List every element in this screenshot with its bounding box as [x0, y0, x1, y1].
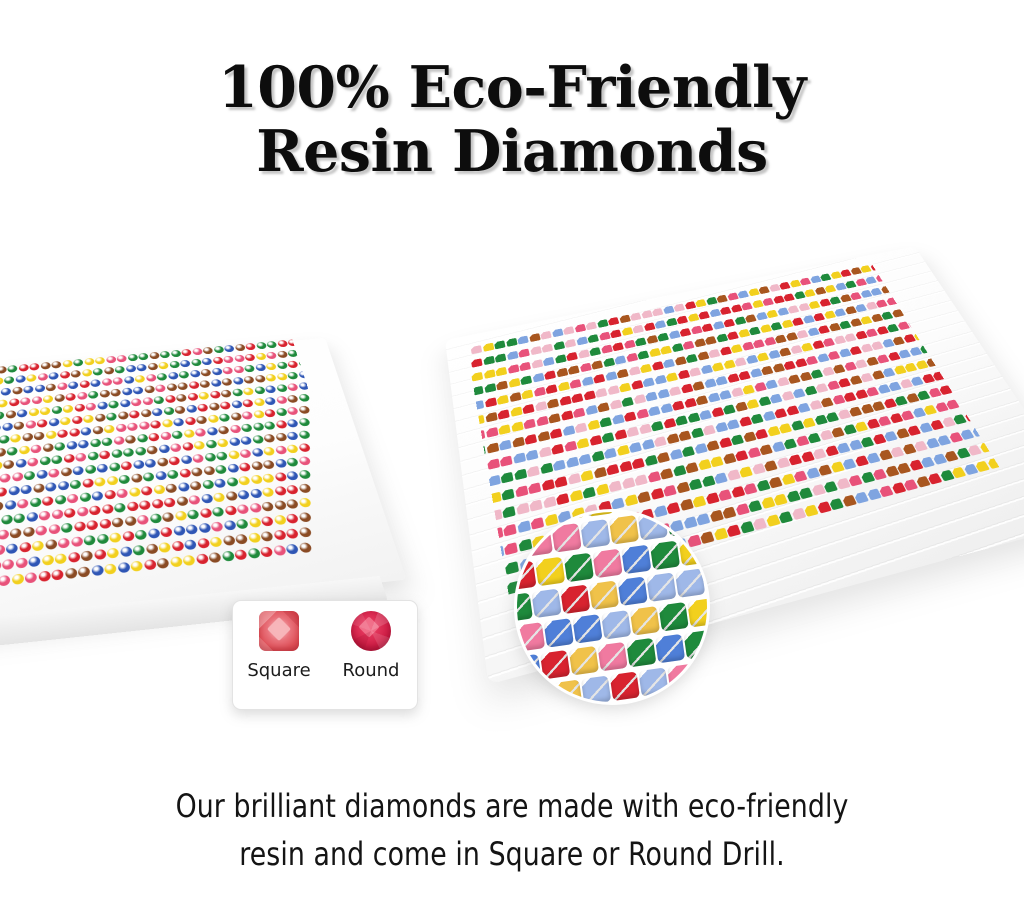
drill-bead [253, 410, 265, 419]
magnified-drill-bead [658, 602, 688, 632]
drill-bead [556, 368, 568, 378]
drill-bead [529, 499, 543, 511]
drill-bead [540, 331, 552, 340]
drill-bead [812, 448, 827, 459]
drill-bead [788, 454, 803, 465]
drill-bead [495, 367, 507, 377]
drill-bead [763, 460, 778, 471]
drill-bead [174, 511, 187, 521]
drill-bead [146, 445, 158, 454]
drill-bead [126, 501, 138, 511]
drill-bead [265, 374, 277, 382]
drill-bead [286, 419, 298, 428]
drill-bead [500, 472, 513, 484]
drill-bead [85, 402, 96, 411]
drill-bead [514, 485, 527, 497]
drill-bead [51, 455, 62, 464]
drill-bead [783, 361, 796, 370]
drill-bead [122, 531, 134, 542]
drill-bead [20, 397, 30, 405]
drill-bead [260, 546, 274, 557]
drill-bead [0, 461, 2, 471]
drill-bead [654, 375, 667, 385]
drill-bead [244, 354, 255, 362]
drill-bead [298, 406, 310, 415]
drill-bead [147, 363, 158, 371]
drill-bead [82, 369, 92, 377]
drill-bead [632, 325, 644, 334]
drill-bead [249, 489, 262, 499]
magnified-drill-bead [581, 675, 611, 702]
drill-bead [747, 500, 762, 512]
drill-bead [42, 443, 53, 452]
drill-bead [778, 347, 791, 356]
drill-bead [553, 341, 565, 350]
drill-bead [680, 384, 693, 394]
drill-bead [0, 448, 6, 457]
drill-bead [261, 516, 274, 527]
drill-bead [690, 428, 704, 439]
drill-bead [807, 433, 821, 444]
drill-bead [173, 418, 185, 427]
drill-bead [25, 420, 36, 429]
drill-bead [199, 380, 210, 388]
drill-bead [220, 389, 232, 397]
drill-bead [156, 373, 167, 381]
drill-bead [537, 431, 550, 442]
drill-bead [261, 501, 274, 511]
drill-bead [542, 496, 556, 508]
drill-bead [69, 428, 80, 437]
drill-bead [109, 462, 121, 472]
drill-bead [96, 534, 108, 545]
drill-bead [221, 378, 232, 386]
drill-bead [719, 307, 731, 315]
drill-bead [509, 392, 521, 402]
drill-bead [212, 507, 225, 517]
drill-bead [595, 388, 608, 398]
drill-bead [48, 524, 60, 535]
drill-bead [125, 365, 136, 373]
drill-bead [125, 435, 136, 444]
title-line-2: Resin Diamonds [0, 120, 1024, 184]
drill-bead [660, 346, 673, 355]
drill-bead [710, 456, 724, 467]
drill-bead [687, 413, 701, 423]
drill-bead [238, 476, 251, 486]
drill-bead [766, 310, 779, 319]
drill-bead [536, 416, 549, 427]
drill-bead [665, 372, 678, 382]
drill-bead [201, 358, 212, 366]
drill-bead [92, 426, 103, 435]
drill-bead [707, 393, 720, 403]
drill-bead [665, 318, 677, 327]
drill-bead [577, 349, 589, 358]
drill-bead [525, 450, 538, 461]
drill-bead [266, 341, 277, 349]
drill-bead [219, 401, 231, 410]
drill-bead [734, 357, 747, 366]
drill-bead [4, 376, 14, 384]
drill-bead [567, 365, 579, 375]
drill-bead [607, 317, 619, 326]
drill-bead [286, 485, 299, 495]
drill-bead [510, 407, 523, 417]
drill-bead [651, 308, 663, 316]
drill-bead [581, 376, 594, 386]
drill-bead [62, 360, 72, 368]
drill-bead [236, 519, 249, 530]
drill-bead [228, 437, 240, 446]
drill-bead [642, 377, 655, 387]
drill-bead [28, 556, 40, 567]
drill-bead [189, 481, 201, 491]
drill-bead [571, 393, 584, 403]
drill-bead [726, 469, 740, 481]
drill-bead [26, 512, 38, 522]
drill-bead [150, 420, 161, 429]
drill-bead [556, 493, 570, 505]
drill-bead [264, 409, 276, 418]
drill-bead [532, 373, 544, 383]
drill-bead [673, 303, 685, 311]
drill-bead [659, 468, 673, 480]
drill-bead [595, 484, 609, 496]
drill-bead [93, 368, 104, 376]
drill-bead [239, 449, 251, 458]
drill-bead [773, 494, 788, 506]
magnified-drill-bead [638, 667, 668, 697]
drill-bead [121, 387, 132, 395]
drill-bead [531, 359, 543, 368]
drill-bead [205, 440, 217, 449]
drill-bead [286, 513, 300, 524]
drill-bead [286, 471, 299, 481]
drill-bead [167, 470, 179, 480]
drill-bead [58, 538, 70, 549]
drill-bead [551, 444, 564, 455]
tray-round-drills [0, 282, 385, 619]
drill-bead [63, 405, 74, 414]
drill-type-legend: Square Round [232, 600, 418, 710]
drill-bead [298, 456, 311, 465]
drill-bead [167, 372, 178, 380]
drill-bead [276, 361, 288, 369]
drill-bead [156, 457, 168, 466]
drill-bead [222, 535, 235, 546]
drill-bead [298, 498, 311, 508]
drill-bead [593, 374, 606, 384]
drill-bead [621, 327, 633, 336]
drill-bead [671, 343, 684, 352]
drill-bead [528, 482, 542, 494]
drill-bead [704, 336, 717, 345]
drill-bead [7, 365, 17, 373]
drill-bead [762, 298, 774, 306]
drill-bead [272, 545, 286, 556]
magnified-drill-bead [523, 684, 553, 702]
drill-bead [127, 354, 138, 362]
drill-bead [563, 326, 575, 335]
drill-bead [606, 464, 620, 475]
drill-bead [791, 317, 804, 326]
drill-bead [748, 327, 761, 336]
drill-bead [12, 387, 22, 395]
drill-bead [213, 346, 224, 354]
drill-bead [231, 388, 243, 396]
drill-bead [24, 471, 35, 481]
drill-bead [471, 358, 483, 367]
drill-bead [247, 548, 261, 559]
drill-bead [132, 545, 145, 556]
drill-bead [524, 434, 537, 445]
drill-bead [548, 413, 561, 423]
drill-bead [17, 499, 28, 509]
drill-bead [97, 463, 109, 473]
drill-bead [46, 383, 56, 391]
drill-bead [506, 351, 518, 360]
drill-bead [273, 515, 286, 526]
magnified-drill-bead [696, 659, 707, 689]
drill-bead [75, 453, 86, 462]
drill-bead [483, 356, 495, 365]
drill-bead [117, 562, 130, 573]
drill-bead [634, 337, 646, 346]
drill-bead [298, 483, 311, 493]
drill-bead [104, 490, 116, 500]
drill-bead [234, 355, 245, 363]
drill-bead [64, 508, 76, 518]
magnifier-bead-field [517, 512, 707, 702]
drill-bead [611, 414, 624, 424]
drill-bead [192, 454, 204, 463]
magnified-drill-bead [540, 650, 570, 680]
magnified-drill-bead [612, 512, 642, 513]
drill-bead [682, 341, 695, 350]
drill-bead [657, 389, 670, 399]
drill-bead [234, 344, 245, 352]
drill-bead [681, 446, 695, 457]
drill-bead [133, 386, 144, 394]
drill-bead [104, 563, 117, 574]
drill-bead [221, 551, 234, 562]
drill-bead [624, 494, 638, 506]
drill-bead [685, 354, 698, 363]
drill-bead [668, 386, 681, 396]
title-line-1: 100% Eco-Friendly [0, 56, 1024, 120]
drill-bead [106, 412, 117, 421]
drill-bead [209, 536, 222, 547]
drill-bead [143, 472, 155, 482]
infographic-canvas: 100% Eco-Friendly Resin Diamonds Square … [0, 0, 1024, 922]
drill-bead [214, 478, 227, 488]
drill-bead [71, 370, 81, 378]
drill-bead [166, 383, 177, 391]
magnified-drill-bead [560, 585, 590, 615]
drill-bead [211, 521, 224, 532]
magnified-drill-bead [531, 589, 561, 619]
drill-bead [678, 430, 692, 441]
magnified-drill-bead [626, 638, 656, 668]
drill-bead [227, 463, 240, 473]
drill-bead [787, 374, 801, 384]
drill-bead [199, 508, 212, 518]
drill-bead [224, 345, 235, 353]
drill-bead [117, 411, 128, 420]
drill-bead [83, 535, 95, 546]
drill-bead [566, 352, 578, 361]
magnified-drill-bead [564, 553, 594, 583]
drill-bead [179, 468, 191, 478]
drill-bead [768, 477, 783, 489]
drill-bead [700, 365, 713, 375]
magnified-drill-bead [655, 634, 685, 664]
drill-bead [242, 399, 254, 408]
drill-bead [97, 401, 108, 410]
magnified-drill-bead [684, 630, 707, 660]
drill-bead [176, 394, 187, 402]
drill-bead [298, 527, 312, 538]
drill-bead [734, 450, 748, 461]
drill-bead [127, 422, 138, 431]
drill-bead [754, 429, 768, 440]
drill-bead [60, 371, 70, 379]
drill-bead [57, 429, 68, 438]
drill-bead [108, 400, 119, 409]
drill-bead [33, 483, 44, 493]
drill-bead [597, 402, 610, 412]
drill-bead [203, 466, 215, 476]
drill-bead [631, 458, 645, 469]
drill-bead [722, 404, 736, 414]
drill-bead [482, 343, 494, 352]
drill-bead [705, 492, 720, 504]
drill-bead [10, 434, 21, 443]
drill-bead [94, 477, 106, 487]
drill-bead [626, 426, 639, 437]
drill-bead [30, 497, 41, 507]
drill-bead [51, 509, 63, 519]
drill-bead [274, 472, 287, 482]
drill-bead [287, 372, 299, 380]
drill-bead [711, 362, 724, 371]
drill-bead [765, 379, 778, 389]
drill-bead [163, 497, 175, 507]
drill-bead [153, 485, 165, 495]
drill-bead [591, 451, 604, 462]
drill-bead [716, 295, 728, 303]
drill-bead [35, 525, 47, 536]
drill-bead [512, 453, 525, 464]
drill-bead [817, 464, 832, 475]
magnified-drill-bead [646, 572, 676, 602]
drill-bead [207, 414, 219, 423]
drill-bead [648, 348, 661, 357]
drill-bead [770, 322, 783, 331]
magnified-drill-bead [617, 576, 647, 606]
drill-bead [585, 405, 598, 415]
drill-bead [557, 382, 569, 392]
drill-bead [235, 534, 248, 545]
drill-bead [115, 424, 126, 433]
drill-bead [802, 417, 816, 428]
drill-bead [628, 442, 642, 453]
drill-bead [252, 422, 264, 431]
drill-bead [234, 549, 248, 560]
magnified-drill-bead [592, 549, 622, 579]
drill-bead [241, 411, 253, 420]
drill-bead [229, 425, 241, 434]
drill-bead [471, 345, 483, 354]
drill-bead [70, 480, 82, 490]
drill-bead [123, 448, 135, 457]
drill-bead [237, 490, 250, 500]
drill-bead [68, 381, 78, 389]
drill-bead [752, 339, 765, 348]
drill-bead [77, 392, 88, 400]
drill-bead [51, 569, 63, 581]
drill-bead [255, 353, 266, 361]
legend-item-round: Round [342, 611, 400, 680]
drill-bead [80, 427, 91, 436]
drill-bead [530, 346, 542, 355]
drill-bead [79, 492, 91, 502]
drill-bead [0, 501, 3, 511]
caption-line-1: Our brilliant diamonds are made with eco… [36, 782, 988, 830]
drill-bead [180, 360, 191, 368]
drill-bead [540, 463, 553, 474]
drill-bead [209, 391, 221, 399]
drill-bead [511, 421, 524, 432]
drill-bead [71, 416, 82, 425]
drill-bead [286, 444, 299, 453]
drill-bead [232, 377, 244, 385]
drill-bead [184, 539, 197, 550]
drill-bead [65, 393, 76, 401]
drill-bead [78, 440, 89, 449]
drill-bead [778, 423, 792, 434]
drill-bead [225, 491, 238, 501]
drill-bead [5, 410, 15, 419]
drill-bead [662, 306, 674, 314]
drill-bead [564, 339, 576, 348]
drill-bead [90, 379, 101, 387]
drill-bead [708, 349, 721, 358]
drill-bead [773, 408, 787, 418]
drill-bead [254, 386, 266, 394]
drill-bead [215, 465, 227, 475]
drill-bead [149, 513, 161, 523]
drill-bead [51, 361, 61, 369]
drill-bead [99, 450, 110, 459]
drill-bead [722, 453, 736, 464]
drill-bead [484, 397, 496, 407]
drill-bead [3, 460, 14, 470]
drill-bead [155, 471, 167, 481]
drill-bead [797, 403, 811, 413]
drill-bead [684, 301, 696, 309]
drill-bead [92, 491, 104, 501]
drill-bead [1, 514, 12, 524]
drill-bead [34, 384, 44, 392]
drill-bead [29, 363, 39, 371]
drill-bead [12, 472, 23, 482]
drill-bead [243, 387, 255, 395]
drill-bead [274, 486, 287, 496]
magnified-drill-bead [638, 512, 668, 541]
drill-bead [66, 441, 77, 450]
